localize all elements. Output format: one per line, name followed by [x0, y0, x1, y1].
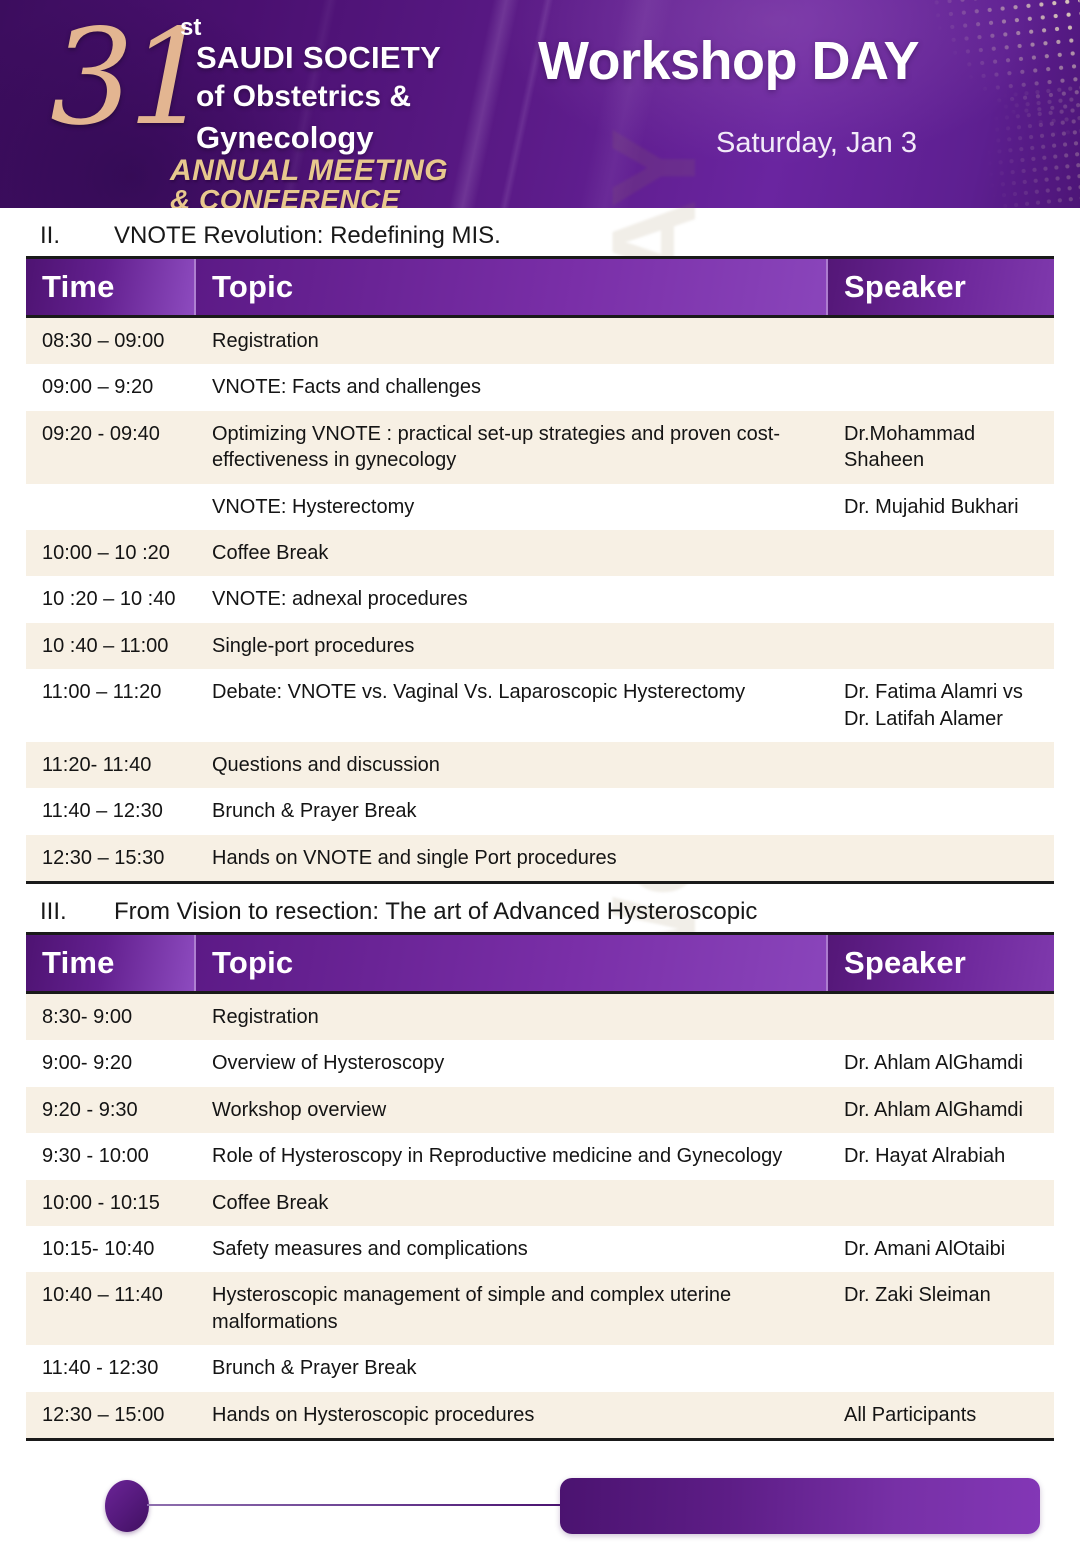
halftone-dots-decoration [900, 80, 1080, 208]
cell-time: 8:30- 9:00 [26, 993, 196, 1041]
section-number: II. [40, 222, 114, 250]
cell-topic: Safety measures and complications [196, 1226, 828, 1272]
cell-topic: Overview of Hysteroscopy [196, 1040, 828, 1086]
table-row: 10:00 – 10 :20Coffee Break [26, 530, 1054, 576]
cell-topic: Role of Hysteroscopy in Reproductive med… [196, 1133, 828, 1179]
cell-topic: Brunch & Prayer Break [196, 788, 828, 834]
table-row: 11:40 - 12:30Brunch & Prayer Break [26, 1345, 1054, 1391]
column-header-time: Time [26, 934, 196, 993]
cell-speaker: Dr.Mohammad Shaheen [828, 411, 1054, 484]
table-row: 09:00 – 9:20VNOTE: Facts and challenges [26, 364, 1054, 410]
cell-topic: Registration [196, 317, 828, 365]
table-row: 11:20- 11:40Questions and discussion [26, 742, 1054, 788]
logo-line-obstetrics: of Obstetrics & [196, 80, 411, 114]
section-number: III. [40, 898, 114, 926]
footer-decoration [0, 1464, 1080, 1534]
cell-time: 10 :40 – 11:00 [26, 623, 196, 669]
table-header-row: TimeTopicSpeaker [26, 934, 1054, 993]
cell-topic: Coffee Break [196, 1180, 828, 1226]
cell-time: 11:40 – 12:30 [26, 788, 196, 834]
cell-speaker: Dr. Mujahid Bukhari [828, 484, 1054, 530]
section-title: VNOTE Revolution: Redefining MIS. [114, 222, 1080, 250]
section-heading: III.From Vision to resection: The art of… [0, 898, 1080, 926]
footer-line-shape [147, 1504, 565, 1506]
cell-time: 09:20 - 09:40 [26, 411, 196, 484]
cell-topic: Hands on Hysteroscopic procedures [196, 1392, 828, 1440]
cell-speaker [828, 364, 1054, 410]
section-heading: II.VNOTE Revolution: Redefining MIS. [0, 222, 1080, 250]
schedule-table: TimeTopicSpeaker8:30- 9:00Registration9:… [26, 932, 1054, 1441]
cell-time: 10:00 – 10 :20 [26, 530, 196, 576]
conference-logo: 31 st SAUDI SOCIETY of Obstetrics & Gyne… [30, 8, 490, 203]
cell-time: 9:30 - 10:00 [26, 1133, 196, 1179]
cell-time: 12:30 – 15:30 [26, 835, 196, 883]
column-header-topic: Topic [196, 934, 828, 993]
cell-speaker: Dr. Ahlam AlGhamdi [828, 1040, 1054, 1086]
table-row: 08:30 – 09:00Registration [26, 317, 1054, 365]
table-row: 10 :40 – 11:00Single-port procedures [26, 623, 1054, 669]
schedule-content: II.VNOTE Revolution: Redefining MIS.Time… [0, 222, 1080, 1441]
table-header-row: TimeTopicSpeaker [26, 258, 1054, 317]
cell-time: 11:00 – 11:20 [26, 669, 196, 742]
cell-time: 09:00 – 9:20 [26, 364, 196, 410]
cell-topic: Hysteroscopic management of simple and c… [196, 1272, 828, 1345]
column-header-speaker: Speaker [828, 934, 1054, 993]
cell-topic: Single-port procedures [196, 623, 828, 669]
cell-speaker [828, 993, 1054, 1041]
cell-time: 11:40 - 12:30 [26, 1345, 196, 1391]
cell-speaker [828, 742, 1054, 788]
footer-bar-shape [560, 1478, 1040, 1534]
cell-speaker: Dr. Hayat Alrabiah [828, 1133, 1054, 1179]
table-row: 9:00- 9:20Overview of HysteroscopyDr. Ah… [26, 1040, 1054, 1086]
page-date: Saturday, Jan 3 [716, 127, 917, 160]
page-title: Workshop DAY [538, 30, 919, 92]
table-row: 12:30 – 15:00Hands on Hysteroscopic proc… [26, 1392, 1054, 1440]
cell-topic: VNOTE: Hysterectomy [196, 484, 828, 530]
logo-line-society: SAUDI SOCIETY [196, 40, 441, 76]
logo-line-gynecology: Gynecology [196, 120, 373, 156]
cell-speaker: Dr. Zaki Sleiman [828, 1272, 1054, 1345]
logo-ordinal-suffix: st [180, 14, 201, 42]
cell-speaker: Dr. Ahlam AlGhamdi [828, 1087, 1054, 1133]
cell-time: 11:20- 11:40 [26, 742, 196, 788]
cell-speaker [828, 317, 1054, 365]
section-title: From Vision to resection: The art of Adv… [114, 898, 1080, 926]
cell-topic: Debate: VNOTE vs. Vaginal Vs. Laparoscop… [196, 669, 828, 742]
cell-topic: Questions and discussion [196, 742, 828, 788]
table-row: 09:20 - 09:40Optimizing VNOTE : practica… [26, 411, 1054, 484]
cell-speaker [828, 1180, 1054, 1226]
cell-topic: Optimizing VNOTE : practical set-up stra… [196, 411, 828, 484]
cell-speaker: Dr. Fatima Alamri vs Dr. Latifah Alamer [828, 669, 1054, 742]
schedule-table: TimeTopicSpeaker08:30 – 09:00Registratio… [26, 256, 1054, 884]
table-row: 12:30 – 15:30Hands on VNOTE and single P… [26, 835, 1054, 883]
cell-speaker [828, 623, 1054, 669]
table-row: 9:20 - 9:30Workshop overviewDr. Ahlam Al… [26, 1087, 1054, 1133]
table-row: 10:00 - 10:15Coffee Break [26, 1180, 1054, 1226]
table-row: 11:00 – 11:20Debate: VNOTE vs. Vaginal V… [26, 669, 1054, 742]
cell-speaker [828, 1345, 1054, 1391]
cell-topic: Registration [196, 993, 828, 1041]
cell-speaker: Dr. Amani AlOtaibi [828, 1226, 1054, 1272]
cell-speaker [828, 530, 1054, 576]
header-banner: 31 st SAUDI SOCIETY of Obstetrics & Gyne… [0, 0, 1080, 208]
cell-time: 10 :20 – 10 :40 [26, 576, 196, 622]
table-row: VNOTE: HysterectomyDr. Mujahid Bukhari [26, 484, 1054, 530]
table-row: 8:30- 9:00Registration [26, 993, 1054, 1041]
cell-topic: Brunch & Prayer Break [196, 1345, 828, 1391]
cell-time [26, 484, 196, 530]
table-row: 10 :20 – 10 :40VNOTE: adnexal procedures [26, 576, 1054, 622]
table-row: 9:30 - 10:00Role of Hysteroscopy in Repr… [26, 1133, 1054, 1179]
column-header-topic: Topic [196, 258, 828, 317]
cell-topic: Hands on VNOTE and single Port procedure… [196, 835, 828, 883]
footer-dot-shape [105, 1480, 149, 1532]
cell-speaker [828, 576, 1054, 622]
table-row: 11:40 – 12:30Brunch & Prayer Break [26, 788, 1054, 834]
logo-line-annual-meeting: ANNUAL MEETING [170, 154, 448, 188]
cell-speaker [828, 788, 1054, 834]
cell-time: 10:40 – 11:40 [26, 1272, 196, 1345]
cell-topic: VNOTE: Facts and challenges [196, 364, 828, 410]
cell-speaker [828, 835, 1054, 883]
cell-speaker: All Participants [828, 1392, 1054, 1440]
cell-time: 08:30 – 09:00 [26, 317, 196, 365]
cell-time: 12:30 – 15:00 [26, 1392, 196, 1440]
cell-time: 10:15- 10:40 [26, 1226, 196, 1272]
cell-topic: Coffee Break [196, 530, 828, 576]
cell-topic: VNOTE: adnexal procedures [196, 576, 828, 622]
table-row: 10:15- 10:40Safety measures and complica… [26, 1226, 1054, 1272]
cell-time: 9:00- 9:20 [26, 1040, 196, 1086]
cell-time: 10:00 - 10:15 [26, 1180, 196, 1226]
column-header-time: Time [26, 258, 196, 317]
table-row: 10:40 – 11:40Hysteroscopic management of… [26, 1272, 1054, 1345]
cell-topic: Workshop overview [196, 1087, 828, 1133]
cell-time: 9:20 - 9:30 [26, 1087, 196, 1133]
logo-line-conference: & CONFERENCE [170, 184, 400, 208]
column-header-speaker: Speaker [828, 258, 1054, 317]
